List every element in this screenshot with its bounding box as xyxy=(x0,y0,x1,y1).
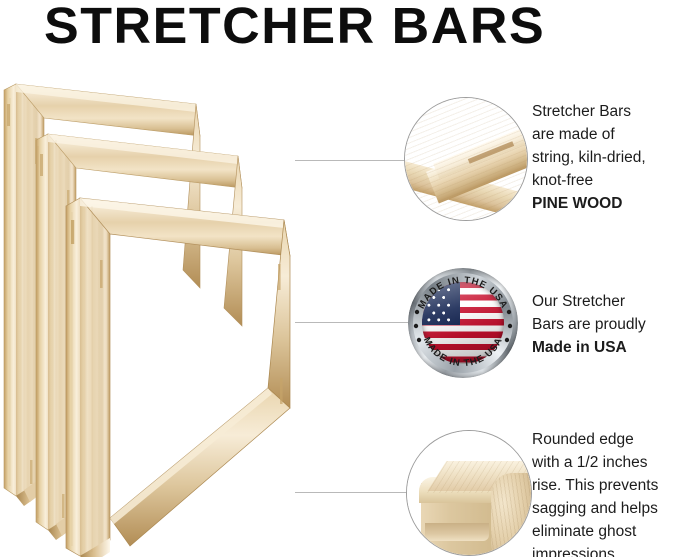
feature-line: Stretcher Bars xyxy=(532,100,678,123)
end-grain-texture xyxy=(491,473,532,556)
feature-line: are made of xyxy=(532,123,678,146)
page-title: STRETCHER BARS xyxy=(44,0,545,54)
feature-line: impressions. xyxy=(532,543,678,557)
bar-groove xyxy=(425,523,489,541)
infographic-page: STRETCHER BARS xyxy=(0,0,679,557)
feature-line: Bars are proudly xyxy=(532,313,678,336)
connector-line-2 xyxy=(295,322,411,323)
feature-line: with a 1/2 inches xyxy=(532,451,678,474)
product-image-stretcher-bar-frames xyxy=(0,78,400,557)
feature-image-pine-wood xyxy=(404,97,528,221)
feature-highlight: PINE WOOD xyxy=(532,192,678,215)
feature-line: Our Stretcher xyxy=(532,290,678,313)
connector-line-3 xyxy=(295,492,409,493)
feature-highlight: Made in USA xyxy=(532,336,678,359)
feature-line: Rounded edge xyxy=(532,428,678,451)
feature-text-rounded-edge: Rounded edge with a 1/2 inches rise. Thi… xyxy=(532,428,678,557)
feature-line: string, kiln-dried, xyxy=(532,146,678,169)
stretcher-frames-illustration xyxy=(0,78,400,557)
badge-ring-text: MADE IN THE USA MADE IN THE USA xyxy=(408,268,518,378)
badge-text-top: MADE IN THE USA xyxy=(416,275,510,311)
feature-line: sagging and helps xyxy=(532,497,678,520)
feature-image-rounded-edge xyxy=(406,430,532,556)
connector-line-1 xyxy=(295,160,409,161)
badge-text-bottom: MADE IN THE USA xyxy=(421,335,505,369)
feature-line: rise. This prevents xyxy=(532,474,678,497)
wood-grain-texture xyxy=(405,98,527,220)
feature-line: knot-free xyxy=(532,169,678,192)
feature-text-made-in-usa: Our Stretcher Bars are proudly Made in U… xyxy=(532,290,678,359)
frame-front xyxy=(66,198,290,557)
feature-text-pine-wood: Stretcher Bars are made of string, kiln-… xyxy=(532,100,678,215)
feature-line: eliminate ghost xyxy=(532,520,678,543)
made-in-usa-badge: MADE IN THE USA MADE IN THE USA xyxy=(408,268,518,378)
